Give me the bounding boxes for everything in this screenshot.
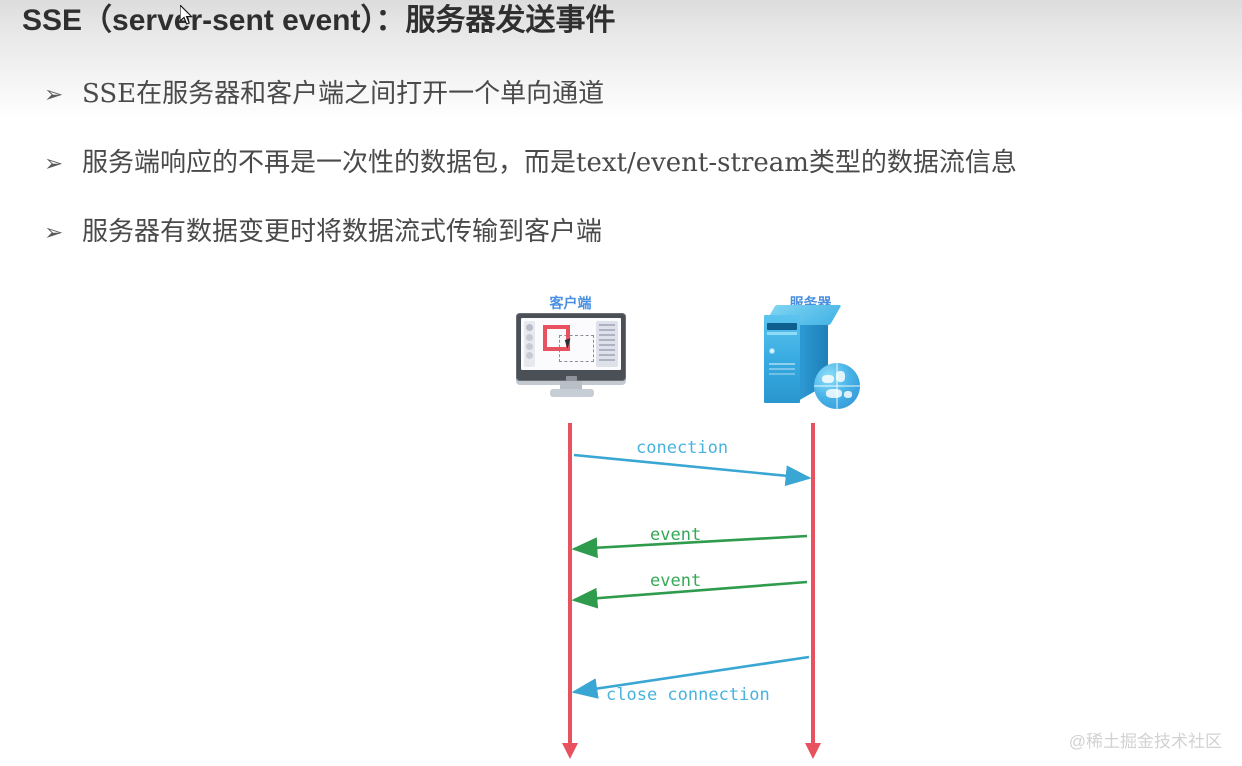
bullet-item: ➢ 服务端响应的不再是一次性的数据包，而是text/event-stream类型… bbox=[44, 145, 1017, 181]
bullet-arrow-icon: ➢ bbox=[44, 214, 82, 250]
message-arrow-conection bbox=[574, 455, 809, 478]
bullet-item: ➢ SSE在服务器和客户端之间打开一个单向通道 bbox=[44, 76, 604, 112]
watermark: @稀土掘金技术社区 bbox=[1069, 727, 1222, 752]
bullet-text: 服务端响应的不再是一次性的数据包，而是text/event-stream类型的数… bbox=[82, 145, 1017, 181]
message-label-conection: conection bbox=[636, 438, 728, 458]
bullet-text: 服务器有数据变更时将数据流式传输到客户端 bbox=[82, 214, 602, 250]
slide-canvas: SSE（server-sent event）：服务器发送事件 ➢ SSE在服务器… bbox=[0, 0, 1242, 766]
sequence-diagram: 客户端 服务器 bbox=[0, 275, 1242, 766]
bullet-item: ➢ 服务器有数据变更时将数据流式传输到客户端 bbox=[44, 214, 602, 250]
message-label-event-2: event bbox=[650, 571, 701, 591]
bullet-text: SSE在服务器和客户端之间打开一个单向通道 bbox=[82, 76, 604, 112]
bullet-arrow-icon: ➢ bbox=[44, 145, 82, 181]
bullet-arrow-icon: ➢ bbox=[44, 76, 82, 112]
message-label-event-1: event bbox=[650, 525, 701, 545]
message-label-close-connection: close connection bbox=[606, 685, 770, 705]
page-title: SSE（server-sent event）：服务器发送事件 bbox=[22, 1, 1172, 41]
